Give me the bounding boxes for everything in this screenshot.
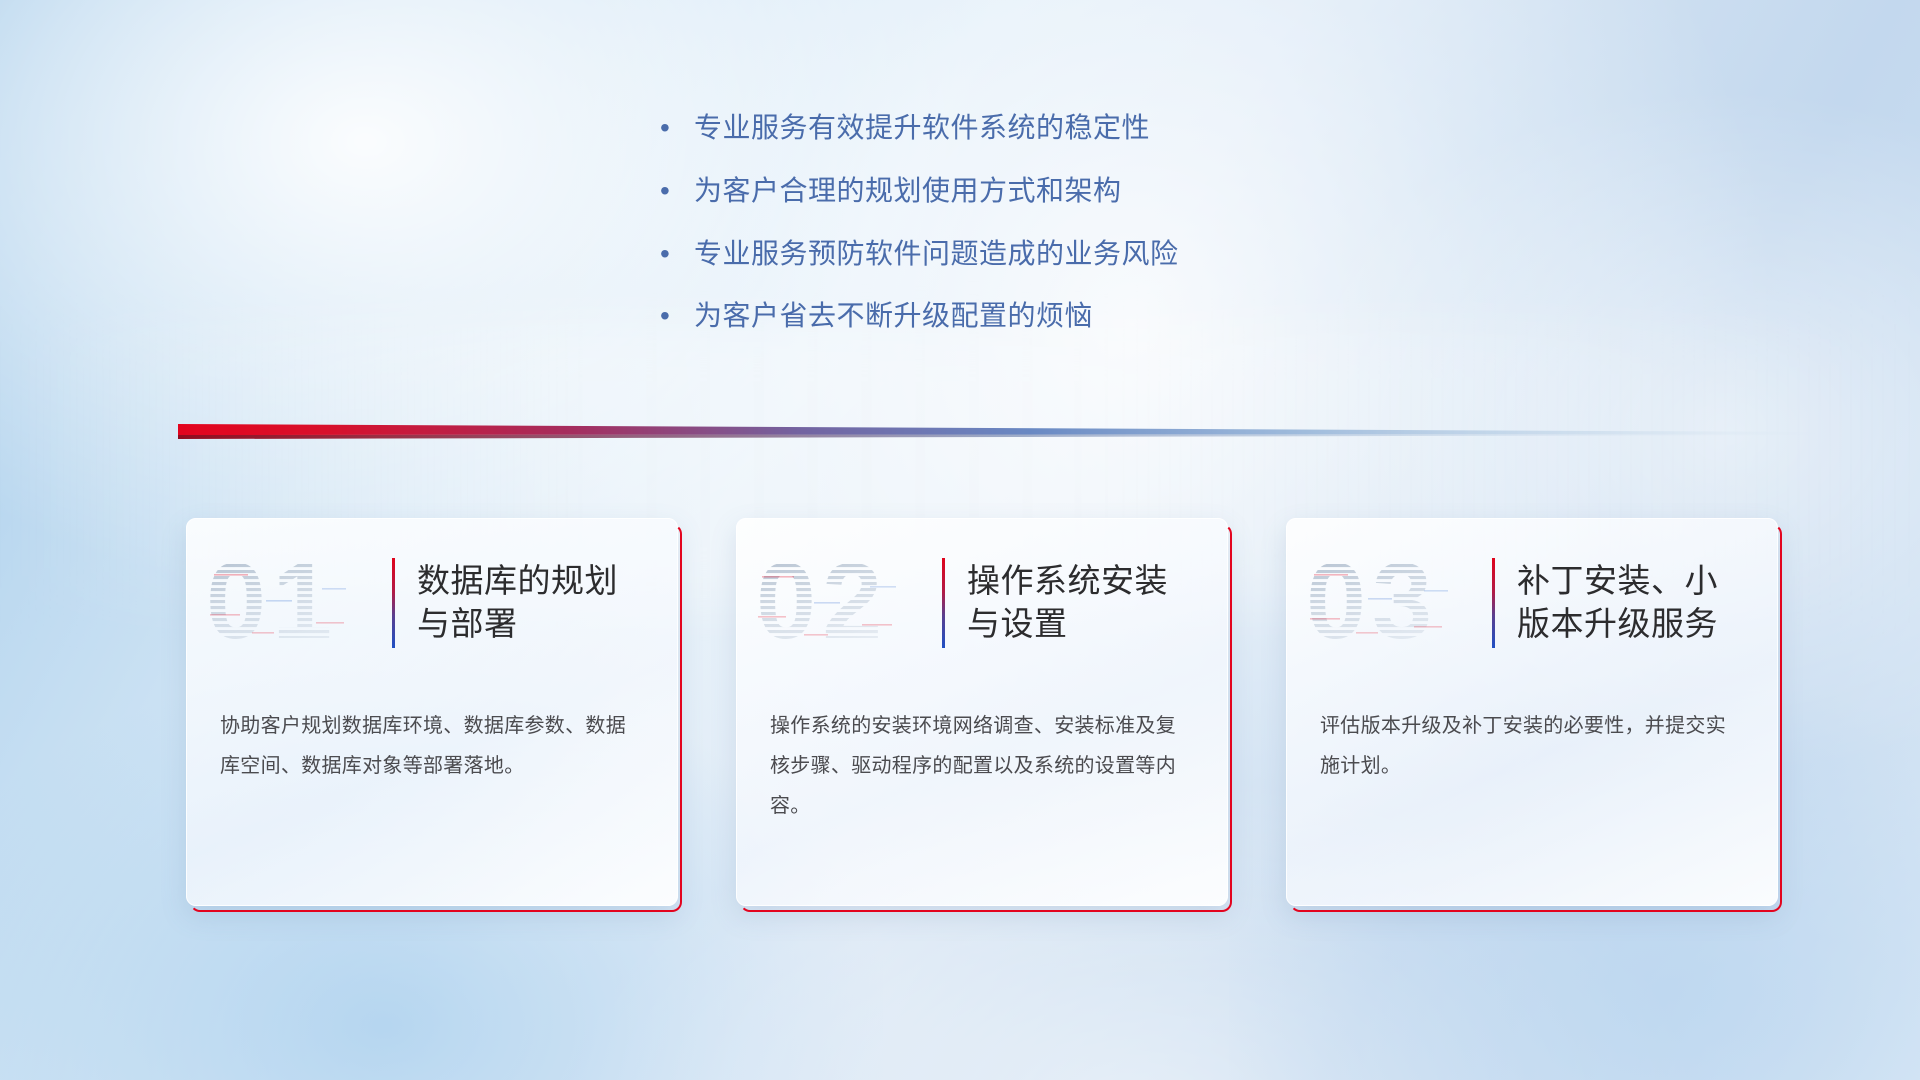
card-title: 补丁安装、小 版本升级服务 — [1517, 560, 1750, 646]
benefits-bullet-list: • 专业服务有效提升软件系统的稳定性 • 为客户合理的规划使用方式和架构 • 专… — [660, 110, 1560, 361]
bullet-dot-icon: • — [660, 298, 694, 334]
card-title: 数据库的规划 与部署 — [417, 560, 650, 646]
service-card[interactable]: 01 数据库的规划 与部署 协助客户规划数 — [186, 518, 678, 906]
card-description: 评估版本升级及补丁安装的必要性，并提交实施计划。 — [1320, 706, 1746, 786]
card-header: 02 操作系统安装 与设置 — [736, 544, 1200, 662]
service-card[interactable]: 02 操作系统安装 与设置 操作系统的安装 — [736, 518, 1228, 906]
svg-text:01: 01 — [206, 546, 338, 658]
card-description: 操作系统的安装环境网络调查、安装标准及复核步骤、驱动程序的配置以及系统的设置等内… — [770, 706, 1196, 826]
divider-wedge-icon — [178, 420, 1818, 446]
bullet-text: 专业服务预防软件问题造成的业务风险 — [694, 236, 1560, 272]
list-item: • 为客户省去不断升级配置的烦恼 — [660, 298, 1560, 334]
bullet-dot-icon: • — [660, 236, 694, 272]
card-number-watermark: 02 — [736, 544, 942, 662]
service-card[interactable]: 03 补丁安装、小 版本升级服务 评估版本 — [1286, 518, 1778, 906]
card-number-watermark: 03 — [1286, 544, 1492, 662]
list-item: • 专业服务有效提升软件系统的稳定性 — [660, 110, 1560, 146]
card-header: 01 数据库的规划 与部署 — [186, 544, 650, 662]
bullet-text: 为客户省去不断升级配置的烦恼 — [694, 298, 1560, 334]
service-card-row: 01 数据库的规划 与部署 协助客户规划数 — [186, 518, 1778, 906]
svg-text:03: 03 — [1306, 546, 1438, 658]
bullet-text: 为客户合理的规划使用方式和架构 — [694, 173, 1560, 209]
slide-content: • 专业服务有效提升软件系统的稳定性 • 为客户合理的规划使用方式和架构 • 专… — [0, 0, 1920, 1080]
bullet-text: 专业服务有效提升软件系统的稳定性 — [694, 110, 1560, 146]
striped-number-icon: 01 — [204, 546, 394, 658]
card-number-watermark: 01 — [186, 544, 392, 662]
striped-number-icon: 02 — [754, 546, 944, 658]
list-item: • 为客户合理的规划使用方式和架构 — [660, 173, 1560, 209]
striped-number-icon: 03 — [1304, 546, 1494, 658]
section-divider — [178, 420, 1818, 446]
bullet-dot-icon: • — [660, 110, 694, 146]
list-item: • 专业服务预防软件问题造成的业务风险 — [660, 236, 1560, 272]
card-description: 协助客户规划数据库环境、数据库参数、数据库空间、数据库对象等部署落地。 — [220, 706, 646, 786]
card-title: 操作系统安装 与设置 — [967, 560, 1200, 646]
bullet-dot-icon: • — [660, 173, 694, 209]
card-header: 03 补丁安装、小 版本升级服务 — [1286, 544, 1750, 662]
